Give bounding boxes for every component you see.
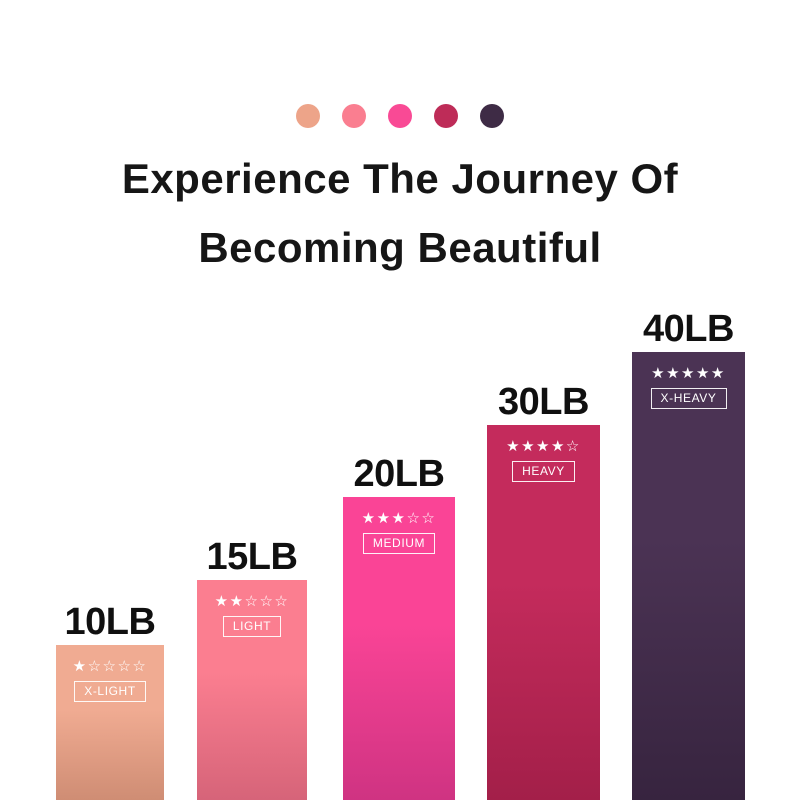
bar-value-label: 40LB xyxy=(643,310,734,348)
bar-info: ★★★★☆HEAVY xyxy=(487,439,600,482)
bar-value-label: 15LB xyxy=(207,538,298,576)
bar-value-label: 20LB xyxy=(354,455,445,493)
resistance-level-badge: X-LIGHT xyxy=(74,681,146,702)
bar-group-15lb[interactable]: 15LB★★☆☆☆LIGHT xyxy=(197,580,307,800)
bar-info: ★★★☆☆MEDIUM xyxy=(343,511,455,554)
product-infographic: Experience The Journey Of Becoming Beaut… xyxy=(0,0,800,800)
bar-column[interactable]: ★★★★☆HEAVY xyxy=(487,425,600,800)
resistance-level-badge: MEDIUM xyxy=(363,533,435,554)
bar-info: ★☆☆☆☆X-LIGHT xyxy=(56,659,164,702)
bar-column[interactable]: ★☆☆☆☆X-LIGHT xyxy=(56,645,164,800)
resistance-level-badge: LIGHT xyxy=(223,616,281,637)
star-rating-icon: ★★★★☆ xyxy=(506,439,581,454)
bar-group-30lb[interactable]: 30LB★★★★☆HEAVY xyxy=(487,425,600,800)
bar-value-label: 30LB xyxy=(498,383,589,421)
star-rating-icon: ★☆☆☆☆ xyxy=(73,659,148,674)
bar-column[interactable]: ★★★☆☆MEDIUM xyxy=(343,497,455,800)
resistance-level-badge: HEAVY xyxy=(512,461,575,482)
bar-group-40lb[interactable]: 40LB★★★★★X-HEAVY xyxy=(632,352,745,800)
bar-info: ★★★★★X-HEAVY xyxy=(632,366,745,409)
star-rating-icon: ★★☆☆☆ xyxy=(215,594,290,609)
star-rating-icon: ★★★★★ xyxy=(651,366,726,381)
bar-group-10lb[interactable]: 10LB★☆☆☆☆X-LIGHT xyxy=(56,645,164,800)
bar-column[interactable]: ★★★★★X-HEAVY xyxy=(632,352,745,800)
bar-value-label: 10LB xyxy=(65,603,156,641)
resistance-level-badge: X-HEAVY xyxy=(651,388,727,409)
bar-group-20lb[interactable]: 20LB★★★☆☆MEDIUM xyxy=(343,497,455,800)
star-rating-icon: ★★★☆☆ xyxy=(362,511,437,526)
bar-info: ★★☆☆☆LIGHT xyxy=(197,594,307,637)
resistance-band-bar-chart: 10LB★☆☆☆☆X-LIGHT15LB★★☆☆☆LIGHT20LB★★★☆☆M… xyxy=(0,0,800,800)
bar-column[interactable]: ★★☆☆☆LIGHT xyxy=(197,580,307,800)
